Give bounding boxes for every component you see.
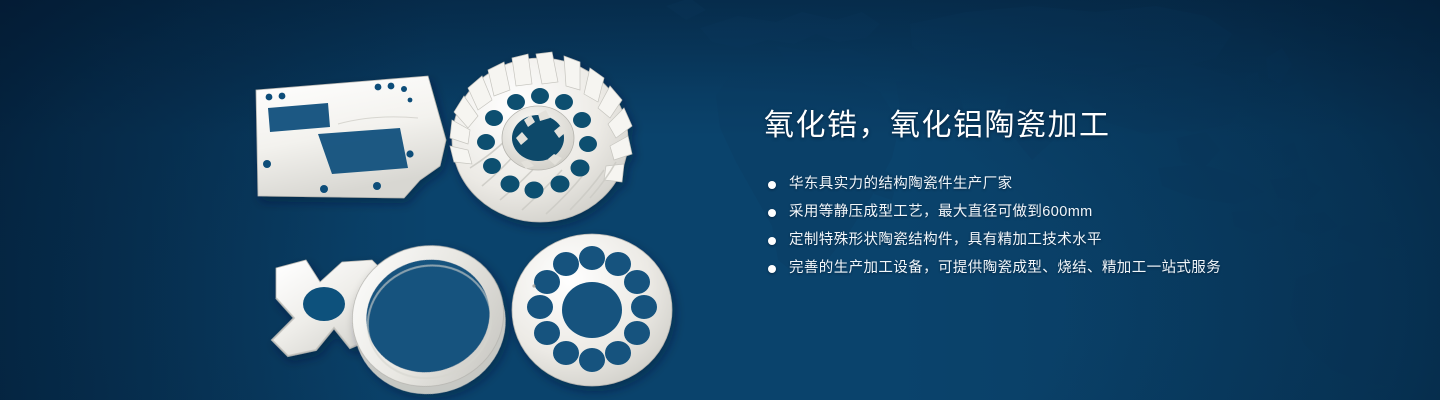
feature-text: 采用等静压成型工艺，最大直径可做到600mm: [789, 200, 1093, 225]
promo-banner: 氧化锆，氧化铝陶瓷加工 华东具实力的结构陶瓷件生产厂家 采用等静压成型工艺，最大…: [0, 0, 1440, 400]
feature-text: 定制特殊形状陶瓷结构件，具有精加工技术水平: [789, 228, 1102, 253]
ceramic-ring: [337, 230, 520, 400]
feature-item-1: 华东具实力的结构陶瓷件生产厂家: [768, 172, 1324, 197]
ceramic-plate: [256, 76, 446, 198]
bullet-dot-icon: [768, 181, 776, 189]
banner-headline: 氧化锆，氧化铝陶瓷加工: [764, 104, 1324, 148]
bullet-dot-icon: [768, 265, 776, 273]
bullet-dot-icon: [768, 209, 776, 217]
feature-item-4: 完善的生产加工设备，可提供陶瓷成型、烧结、精加工一站式服务: [768, 256, 1324, 281]
ceramic-parts-photo: [232, 48, 702, 388]
marketing-copy: 氧化锆，氧化铝陶瓷加工 华东具实力的结构陶瓷件生产厂家 采用等静压成型工艺，最大…: [764, 104, 1324, 284]
feature-item-2: 采用等静压成型工艺，最大直径可做到600mm: [768, 200, 1324, 225]
feature-text: 华东具实力的结构陶瓷件生产厂家: [789, 172, 1013, 197]
ceramic-impeller: [450, 52, 632, 222]
feature-text: 完善的生产加工设备，可提供陶瓷成型、烧结、精加工一站式服务: [789, 256, 1221, 281]
bullet-dot-icon: [768, 237, 776, 245]
feature-list: 华东具实力的结构陶瓷件生产厂家 采用等静压成型工艺，最大直径可做到600mm 定…: [768, 172, 1324, 281]
ceramic-perforated-disc: [512, 234, 672, 386]
feature-item-3: 定制特殊形状陶瓷结构件，具有精加工技术水平: [768, 228, 1324, 253]
